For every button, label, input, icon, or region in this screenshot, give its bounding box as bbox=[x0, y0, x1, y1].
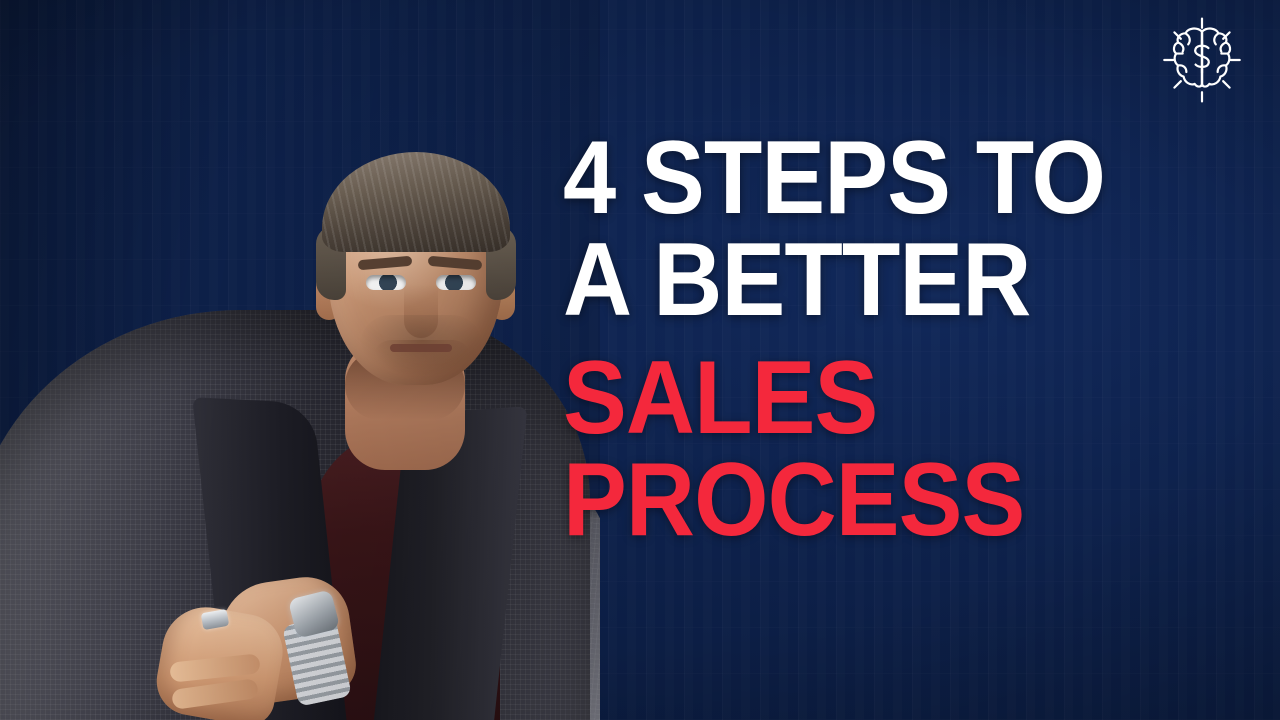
video-thumbnail: 4 STEPS TO A BETTER SALES PROCESS bbox=[0, 0, 1280, 720]
headline: 4 STEPS TO A BETTER SALES PROCESS bbox=[563, 128, 1163, 552]
chin-shading bbox=[372, 340, 472, 380]
brain-dollar-idea-icon bbox=[1156, 14, 1248, 106]
left-eye bbox=[366, 275, 406, 290]
headline-line-1: 4 STEPS TO bbox=[563, 128, 1115, 230]
headline-line-3: SALES bbox=[563, 348, 1115, 450]
hair bbox=[322, 152, 510, 252]
right-eye bbox=[436, 275, 476, 290]
headline-line-2: A BETTER bbox=[563, 230, 1115, 332]
headline-line-4: PROCESS bbox=[563, 450, 1115, 552]
presenter-portrait bbox=[0, 0, 600, 720]
